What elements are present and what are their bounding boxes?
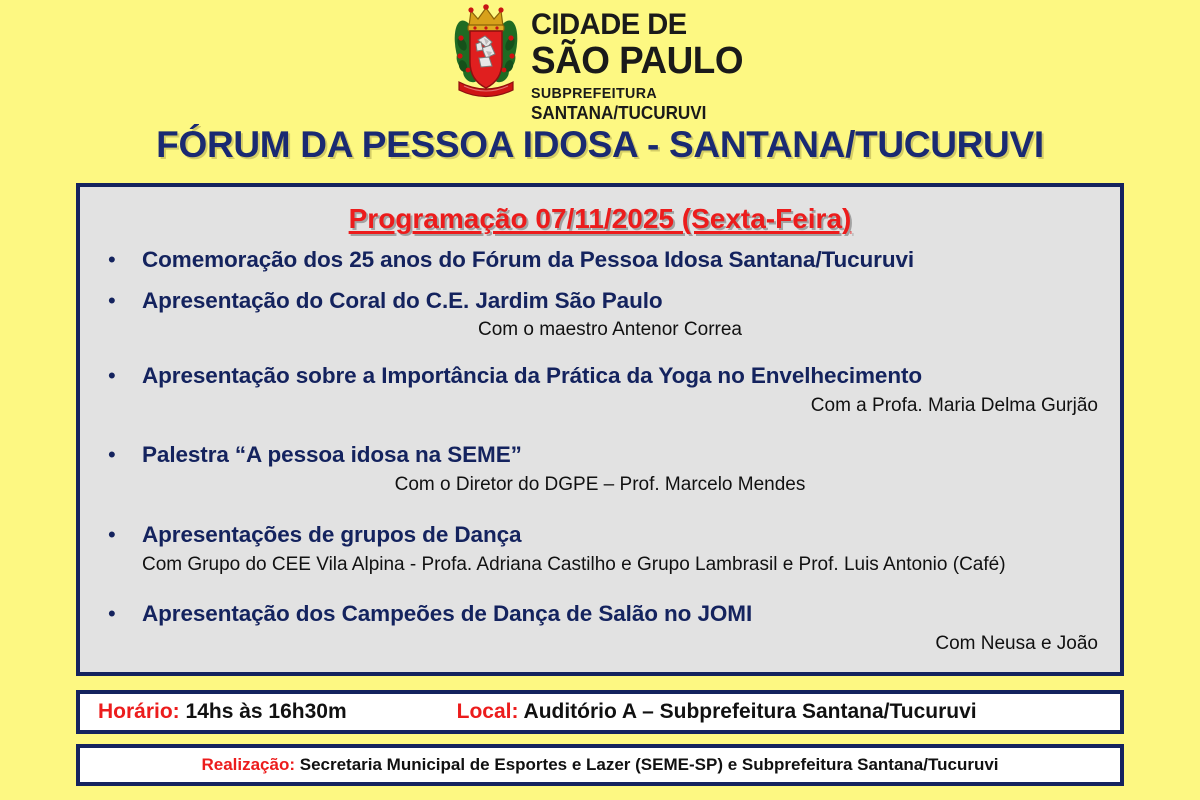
program-panel: Programação 07/11/2025 (Sexta-Feira) • C… [76,183,1124,676]
list-item-subtitle: Com a Profa. Maria Delma Gurjão [96,394,1104,419]
list-item-subtitle: Com Neusa e João [96,632,1104,657]
schedule-time-value: 14hs às 16h30m [186,700,347,723]
logo-header: CIDADE DE SÃO PAULO SUBPREFEITURA SANTAN… [0,0,1200,120]
list-item-subtitle: Com o Diretor do DGPE – Prof. Marcelo Me… [96,473,1104,498]
program-heading: Programação 07/11/2025 (Sexta-Feira) [96,203,1104,235]
schedule-place-label: Local: [457,700,524,723]
schedule-time: Horário: 14hs às 16h30m [98,700,347,724]
list-item: • Comemoração dos 25 anos do Fórum da Pe… [96,245,1104,275]
logo-line-sao-paulo: SÃO PAULO [531,42,743,80]
bullet-icon: • [104,365,142,387]
sao-paulo-coat-of-arms-icon [451,4,521,108]
list-item-title: Apresentações de grupos de Dança [142,520,521,550]
list-item: • Apresentação dos Campeões de Dança de … [96,599,1104,656]
logo-line-cidade-de: CIDADE DE [531,10,743,40]
credits-value: Secretaria Municipal de Esportes e Lazer… [300,755,999,774]
list-item: • Palestra “A pessoa idosa na SEME” Com … [96,440,1104,497]
credits-label: Realização: [201,755,299,774]
list-item-title: Palestra “A pessoa idosa na SEME” [142,440,522,470]
list-item-title: Comemoração dos 25 anos do Fórum da Pess… [142,245,914,275]
bullet-icon: • [104,444,142,466]
credits-bar: Realização: Secretaria Municipal de Espo… [76,744,1124,786]
list-item: • Apresentação sobre a Importância da Pr… [96,361,1104,418]
bullet-icon: • [104,603,142,625]
schedule-place-value: Auditório A – Subprefeitura Santana/Tucu… [524,700,977,723]
bullet-icon: • [104,249,142,271]
list-item-title: Apresentação dos Campeões de Dança de Sa… [142,599,752,629]
list-item-title: Apresentação do Coral do C.E. Jardim São… [142,286,663,316]
logo-block: CIDADE DE SÃO PAULO SUBPREFEITURA SANTAN… [451,4,750,122]
list-item: • Apresentações de grupos de Dança Com G… [96,520,1104,577]
bullet-icon: • [104,524,142,546]
schedule-bar: Horário: 14hs às 16h30m Local: Auditório… [76,690,1124,734]
list-item-title: Apresentação sobre a Importância da Prát… [142,361,922,391]
logo-line-santana-tucuruvi: SANTANA/TUCURUVI [531,104,739,122]
logo-wordmark: CIDADE DE SÃO PAULO SUBPREFEITURA SANTAN… [531,4,750,122]
bullet-icon: • [104,290,142,312]
logo-line-subprefeitura: SUBPREFEITURA [531,86,739,101]
schedule-time-label: Horário: [98,700,186,723]
list-item-subtitle: Com o maestro Antenor Correa [96,318,1104,343]
credits-text: Realização: Secretaria Municipal de Espo… [201,755,998,775]
list-item-subtitle: Com Grupo do CEE Vila Alpina - Profa. Ad… [96,553,1104,578]
page-title: FÓRUM DA PESSOA IDOSA - SANTANA/TUCURUVI [0,124,1200,166]
schedule-place: Local: Auditório A – Subprefeitura Santa… [457,700,977,724]
list-item: • Apresentação do Coral do C.E. Jardim S… [96,286,1104,343]
